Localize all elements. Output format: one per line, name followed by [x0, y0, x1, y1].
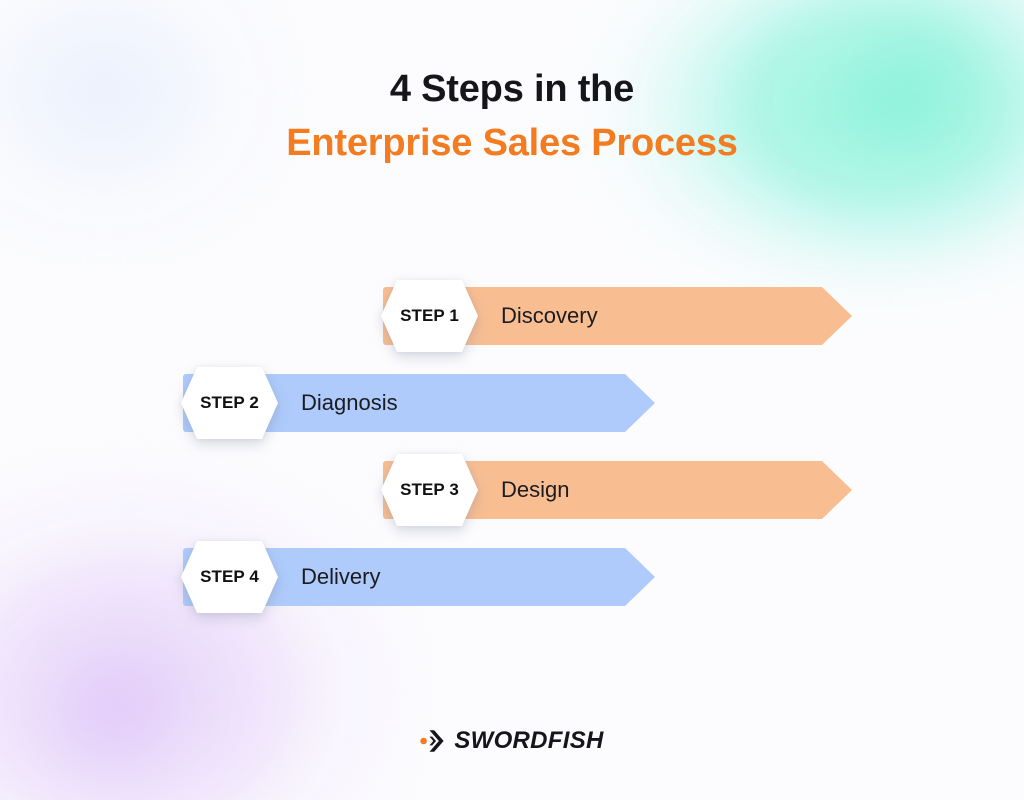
step-badge-label: STEP 1: [381, 280, 478, 352]
step-badge-label: STEP 4: [181, 541, 278, 613]
step-label: Discovery: [501, 287, 598, 345]
step-row[interactable]: Diagnosis STEP 2: [183, 374, 655, 432]
steps-list: Discovery STEP 1 Diagnosis STEP 2 Design…: [0, 287, 1024, 607]
background-glow-lavender-inner: [0, 580, 290, 800]
title-line-accent: Enterprise Sales Process: [0, 116, 1024, 170]
title-line-primary: 4 Steps in the: [0, 62, 1024, 116]
brand-logo[interactable]: SWORDFISH: [0, 727, 1024, 755]
swordfish-chevron-icon: [420, 728, 445, 754]
step-badge[interactable]: STEP 4: [181, 541, 278, 613]
infographic-canvas: 4 Steps in the Enterprise Sales Process …: [0, 0, 1024, 800]
step-row[interactable]: Discovery STEP 1: [383, 287, 852, 345]
step-row[interactable]: Design STEP 3: [383, 461, 852, 519]
step-badge[interactable]: STEP 3: [381, 454, 478, 526]
step-badge-label: STEP 3: [381, 454, 478, 526]
brand-logo-text: SWORDFISH: [454, 727, 603, 755]
step-row[interactable]: Delivery STEP 4: [183, 548, 655, 606]
step-label: Design: [501, 461, 569, 519]
step-badge[interactable]: STEP 1: [381, 280, 478, 352]
step-label: Delivery: [301, 548, 380, 606]
step-badge[interactable]: STEP 2: [181, 367, 278, 439]
page-title: 4 Steps in the Enterprise Sales Process: [0, 62, 1024, 170]
step-label: Diagnosis: [301, 374, 398, 432]
step-badge-label: STEP 2: [181, 367, 278, 439]
